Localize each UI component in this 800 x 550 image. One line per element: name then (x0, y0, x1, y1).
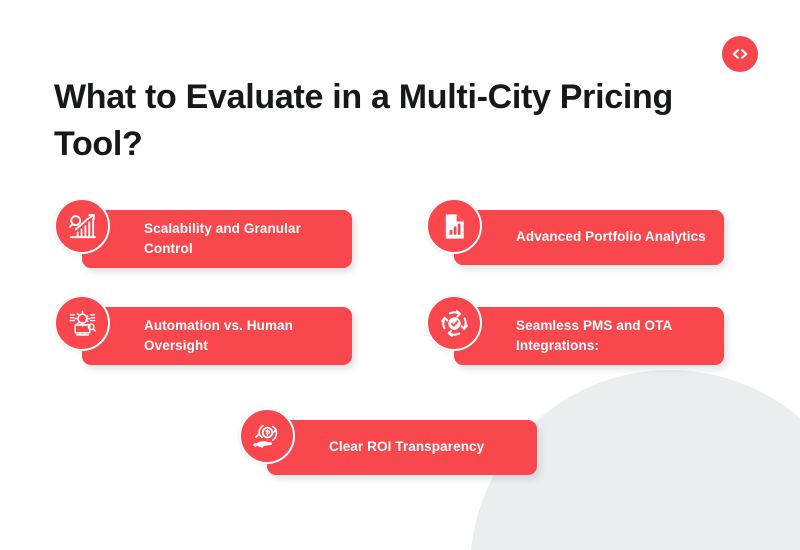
card-body[interactable]: Automation vs. Human Oversight (82, 307, 352, 365)
card-icon-badge (426, 198, 482, 254)
card-body[interactable]: Clear ROI Transparency (267, 420, 537, 475)
desktop-gear-automation-icon (67, 308, 98, 339)
card-label: Scalability and Granular Control (144, 219, 338, 260)
sync-arrows-check-icon (439, 308, 470, 339)
document-bar-chart-icon (439, 211, 470, 242)
code-brackets-icon (730, 44, 750, 64)
card-body[interactable]: Scalability and Granular Control (82, 210, 352, 268)
card-label: Seamless PMS and OTA Integrations: (516, 316, 710, 357)
card-icon-badge (239, 408, 295, 464)
card-body[interactable]: Advanced Portfolio Analytics (454, 210, 724, 265)
card-label: Automation vs. Human Oversight (144, 316, 338, 357)
infographic-slide: What to Evaluate in a Multi-City Pricing… (0, 0, 800, 550)
card-label: Advanced Portfolio Analytics (516, 227, 706, 247)
card-body[interactable]: Seamless PMS and OTA Integrations: (454, 307, 724, 365)
card-icon-badge (54, 198, 110, 254)
card-icon-badge (426, 295, 482, 351)
card-icon-badge (54, 295, 110, 351)
card-label: Clear ROI Transparency (329, 437, 484, 457)
brand-logo-badge[interactable] (722, 36, 758, 72)
hand-holding-coin-roi-icon (252, 421, 283, 452)
magnifier-bar-chart-growth-icon (67, 211, 98, 242)
page-title: What to Evaluate in a Multi-City Pricing… (54, 74, 694, 168)
